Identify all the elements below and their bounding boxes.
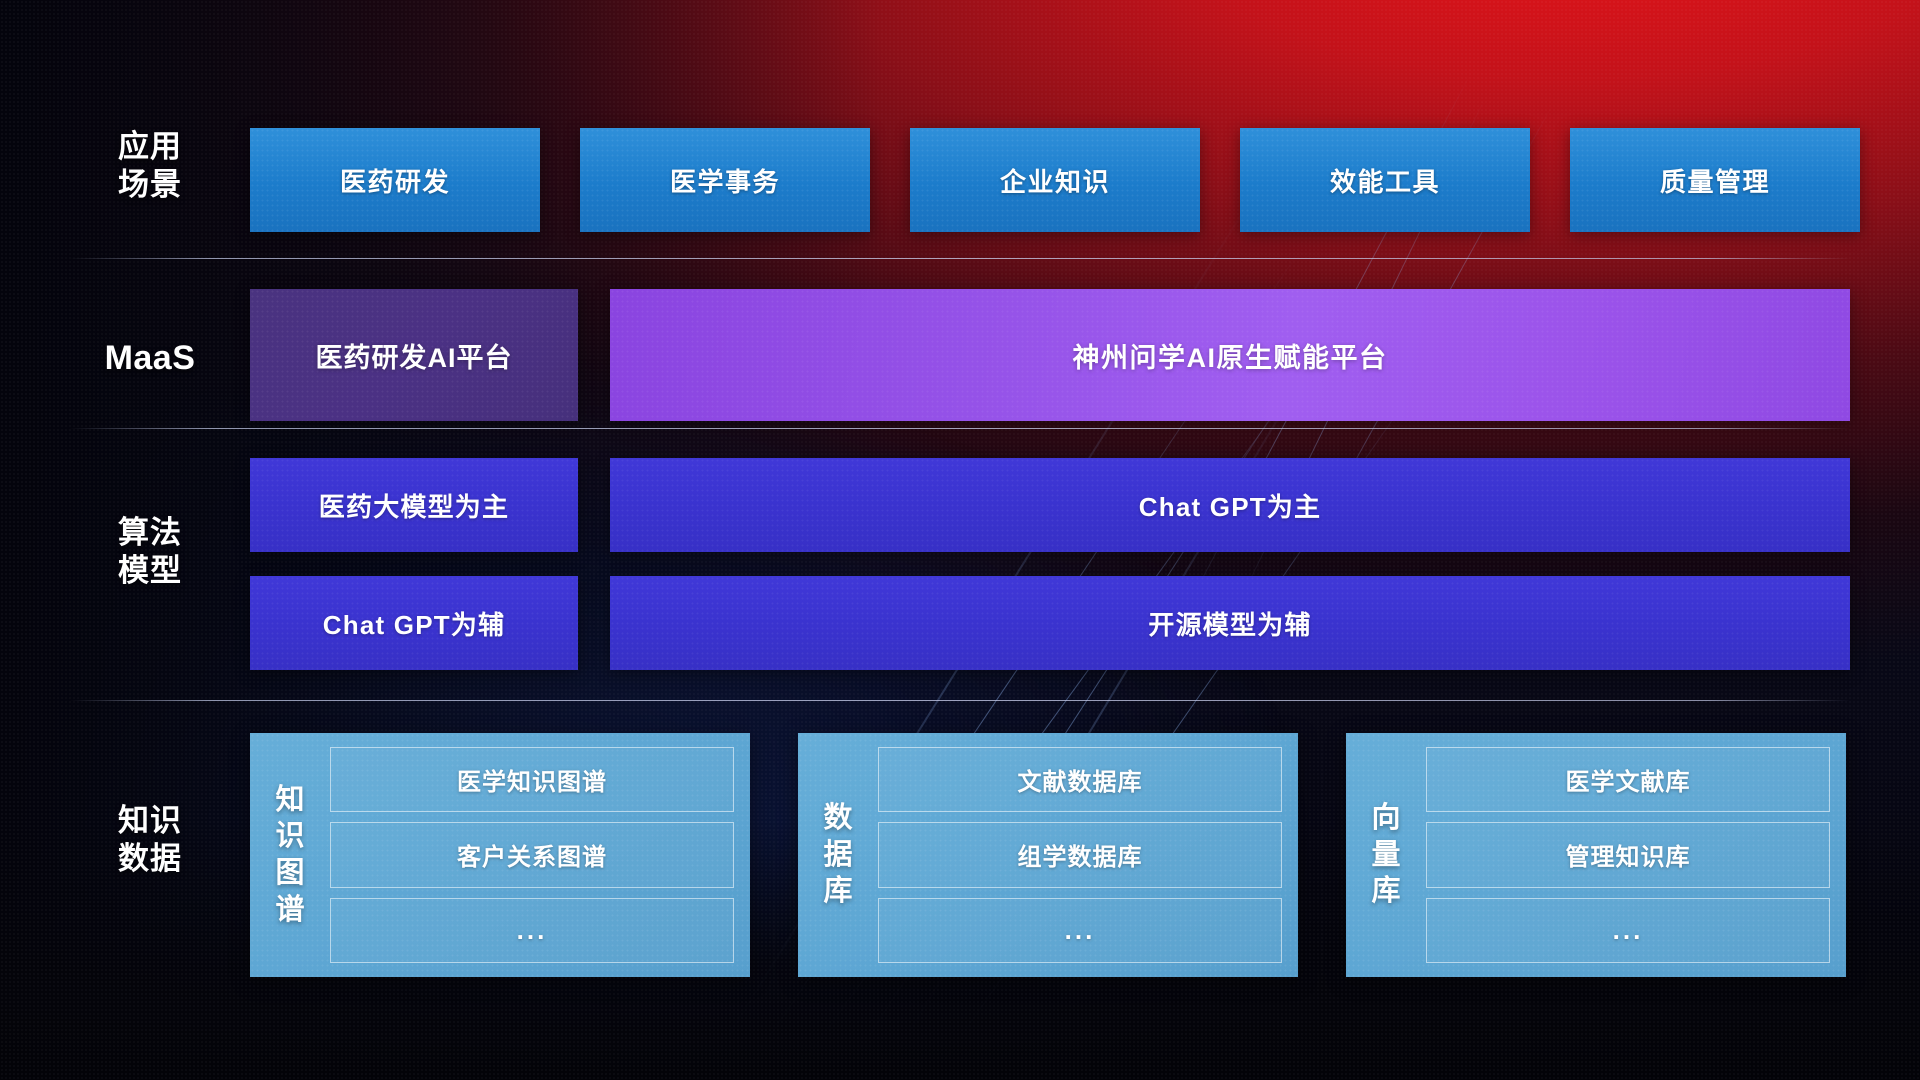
row-label-application: 应用 场景 — [70, 128, 230, 204]
algo-box-label: Chat GPT为辅 — [323, 605, 505, 642]
knowledge-item-label: 文献数据库 — [1018, 762, 1143, 797]
algo-box-label: 医药大模型为主 — [319, 487, 509, 524]
knowledge-item-more[interactable]: ... — [330, 898, 734, 963]
app-box-enterprise-knowledge[interactable]: 企业知识 — [910, 128, 1200, 232]
knowledge-panel-database[interactable]: 数据库 文献数据库 组学数据库 ... — [798, 733, 1298, 977]
knowledge-item[interactable]: 组学数据库 — [878, 822, 1282, 887]
divider-maas-algorithm — [70, 428, 1850, 429]
knowledge-item[interactable]: 客户关系图谱 — [330, 822, 734, 887]
app-box-label: 医学事务 — [670, 162, 780, 199]
algo-box-medicine-llm-primary[interactable]: 医药大模型为主 — [250, 458, 578, 552]
knowledge-item[interactable]: 管理知识库 — [1426, 822, 1830, 887]
algo-box-chatgpt-primary[interactable]: Chat GPT为主 — [610, 458, 1850, 552]
knowledge-item-more[interactable]: ... — [1426, 898, 1830, 963]
diagram-content: 应用 场景 医药研发 医学事务 企业知识 效能工具 质量管理 MaaS 医药研发… — [0, 0, 1920, 1080]
maas-box-label: 神州问学AI原生赋能平台 — [1073, 336, 1388, 375]
knowledge-row: 知识图谱 医学知识图谱 客户关系图谱 ... 数据库 — [250, 733, 1846, 977]
app-box-label: 质量管理 — [1660, 162, 1770, 199]
app-box-efficiency-tools[interactable]: 效能工具 — [1240, 128, 1530, 232]
knowledge-item-label: 组学数据库 — [1018, 837, 1143, 872]
algorithm-row-secondary: Chat GPT为辅 开源模型为辅 — [250, 576, 1850, 670]
knowledge-item[interactable]: 文献数据库 — [878, 747, 1282, 812]
app-box-label: 医药研发 — [340, 162, 450, 199]
knowledge-item-label: 医学知识图谱 — [457, 762, 607, 797]
row-label-algorithm: 算法 模型 — [70, 514, 230, 590]
knowledge-item-label: ... — [517, 915, 548, 946]
knowledge-panel-title: 向量库 — [1360, 747, 1412, 963]
algorithm-row: 医药大模型为主 Chat GPT为主 Chat GPT为辅 开源模型为辅 — [250, 458, 1850, 670]
knowledge-item-label: 客户关系图谱 — [457, 837, 607, 872]
maas-box-medicine-ai-platform[interactable]: 医药研发AI平台 — [250, 289, 578, 421]
row-label-knowledge: 知识 数据 — [70, 802, 230, 878]
algorithm-row-primary: 医药大模型为主 Chat GPT为主 — [250, 458, 1850, 552]
knowledge-item-more[interactable]: ... — [878, 898, 1282, 963]
row-label-maas: MaaS — [70, 338, 230, 379]
divider-application-maas — [70, 258, 1850, 259]
algo-box-label: Chat GPT为主 — [1139, 487, 1321, 524]
app-box-quality-management[interactable]: 质量管理 — [1570, 128, 1860, 232]
algo-box-chatgpt-secondary[interactable]: Chat GPT为辅 — [250, 576, 578, 670]
knowledge-panel-graph[interactable]: 知识图谱 医学知识图谱 客户关系图谱 ... — [250, 733, 750, 977]
app-box-medical-affairs[interactable]: 医学事务 — [580, 128, 870, 232]
application-row: 医药研发 医学事务 企业知识 效能工具 质量管理 — [250, 128, 1860, 232]
knowledge-panel-title: 知识图谱 — [264, 747, 316, 963]
app-box-label: 企业知识 — [1000, 162, 1110, 199]
knowledge-item[interactable]: 医学知识图谱 — [330, 747, 734, 812]
knowledge-panel-items: 医学文献库 管理知识库 ... — [1426, 747, 1830, 963]
app-box-label: 效能工具 — [1330, 162, 1440, 199]
knowledge-item-label: 医学文献库 — [1566, 762, 1691, 797]
knowledge-item[interactable]: 医学文献库 — [1426, 747, 1830, 812]
maas-box-shenzhou-platform[interactable]: 神州问学AI原生赋能平台 — [610, 289, 1850, 421]
knowledge-panel-vector[interactable]: 向量库 医学文献库 管理知识库 ... — [1346, 733, 1846, 977]
maas-box-label: 医药研发AI平台 — [316, 336, 513, 375]
knowledge-panel-items: 医学知识图谱 客户关系图谱 ... — [330, 747, 734, 963]
algo-box-label: 开源模型为辅 — [1148, 605, 1311, 642]
maas-row: 医药研发AI平台 神州问学AI原生赋能平台 — [250, 289, 1850, 421]
app-box-medicine-rd[interactable]: 医药研发 — [250, 128, 540, 232]
knowledge-item-label: ... — [1065, 915, 1096, 946]
knowledge-panel-items: 文献数据库 组学数据库 ... — [878, 747, 1282, 963]
knowledge-item-label: 管理知识库 — [1566, 837, 1691, 872]
algo-box-opensource-secondary[interactable]: 开源模型为辅 — [610, 576, 1850, 670]
divider-algorithm-knowledge — [70, 700, 1850, 701]
slide-canvas: 应用 场景 医药研发 医学事务 企业知识 效能工具 质量管理 MaaS 医药研发… — [0, 0, 1920, 1080]
knowledge-item-label: ... — [1613, 915, 1644, 946]
knowledge-panel-title: 数据库 — [812, 747, 864, 963]
